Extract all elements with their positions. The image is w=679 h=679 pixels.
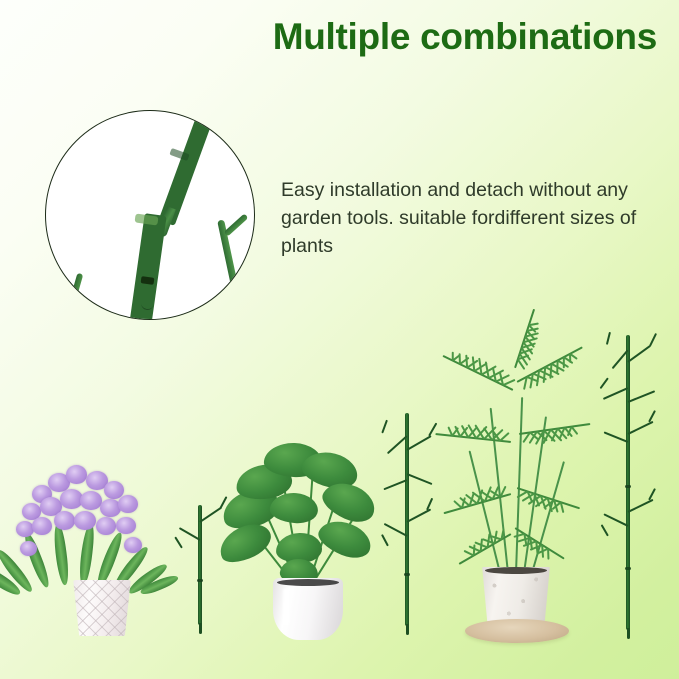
stake-branch xyxy=(407,473,433,485)
pot-rim xyxy=(277,579,339,586)
palm-stem xyxy=(515,397,523,573)
palm-frond xyxy=(519,423,591,435)
stake-stem xyxy=(198,505,202,625)
page-title: Multiple combinations xyxy=(0,16,657,58)
stake-node xyxy=(625,485,631,488)
pot-texture xyxy=(72,580,132,636)
description-text: Easy installation and detach without any… xyxy=(281,176,659,260)
wooden-saucer xyxy=(465,619,569,643)
stake-branch xyxy=(603,387,629,400)
flower-bloom xyxy=(96,517,116,535)
palm-frond xyxy=(514,527,564,559)
stake-branch xyxy=(603,431,628,443)
areca-palm-plant xyxy=(433,337,603,637)
pot-highlight xyxy=(283,588,289,626)
stake-branch xyxy=(627,499,653,513)
stake-stem xyxy=(626,335,630,630)
palm-frond xyxy=(517,487,580,509)
stake-tip xyxy=(199,623,202,634)
connector-collar xyxy=(134,213,158,225)
stake-branch xyxy=(627,345,651,363)
flower-bloom xyxy=(54,511,75,530)
stake-node xyxy=(625,567,631,570)
palm-frond xyxy=(435,433,511,443)
flower-leaf xyxy=(51,523,71,586)
stake-twig xyxy=(381,420,388,434)
flower-bloom xyxy=(66,465,87,484)
small-stake xyxy=(188,505,212,625)
stake-node xyxy=(197,579,203,582)
flower-bloom xyxy=(20,541,37,556)
flower-bloom xyxy=(74,511,96,530)
flower-leaf xyxy=(78,523,95,586)
stake-twig xyxy=(606,332,611,345)
closeup-branch-left xyxy=(69,273,84,305)
purple-flower-plant xyxy=(6,455,166,635)
stake-branch xyxy=(406,508,431,523)
palm-frond xyxy=(514,309,535,369)
flower-bloom xyxy=(32,517,52,535)
closeup-connector-circle xyxy=(45,110,255,320)
closeup-branch-right xyxy=(217,219,246,320)
stake-branch xyxy=(627,421,653,435)
flower-bloom xyxy=(124,537,142,553)
medium-stake xyxy=(393,413,421,626)
monstera-plant xyxy=(218,435,388,635)
monstera-leaf xyxy=(214,517,277,569)
stake-branch xyxy=(628,390,656,403)
white-textured-pot xyxy=(72,580,132,636)
stake-node xyxy=(404,573,410,576)
closeup-branch-right-top xyxy=(224,213,249,236)
stake-twig xyxy=(174,536,183,548)
stake-twig xyxy=(649,333,657,346)
white-glossy-pot xyxy=(273,578,343,640)
monstera-leaf xyxy=(314,514,376,564)
tall-stake xyxy=(613,335,643,630)
flower-bloom xyxy=(80,491,102,510)
stake-tip xyxy=(406,624,409,635)
stake-branch xyxy=(603,513,628,527)
flower-bloom xyxy=(118,495,138,513)
stake-branch xyxy=(406,435,431,451)
product-banner: Multiple combinations Easy installation … xyxy=(0,0,679,679)
flower-bloom xyxy=(116,517,136,534)
palm-frond xyxy=(442,355,513,391)
stake-tip xyxy=(627,628,630,639)
